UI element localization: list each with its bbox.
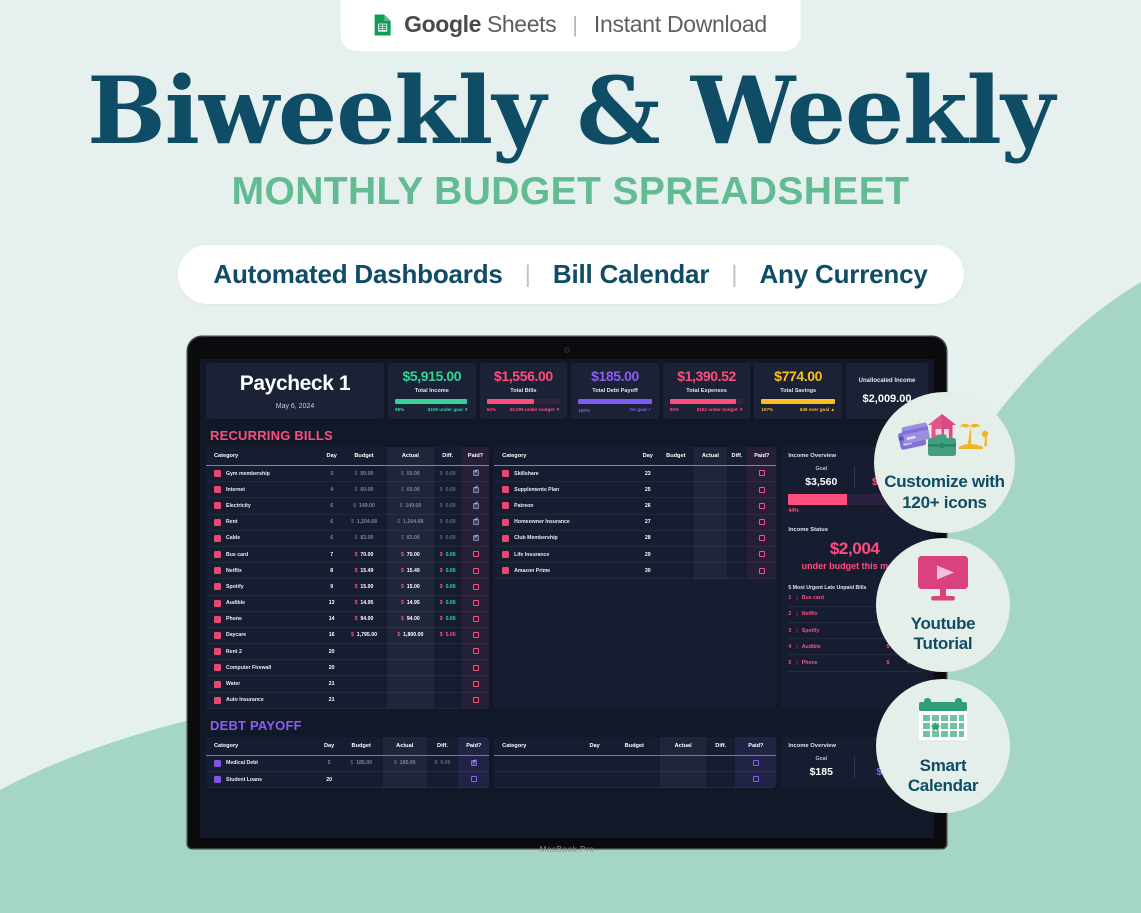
kpi-value: $185.00 — [591, 368, 639, 384]
badge-smart-calendar[interactable]: Smart Calendar — [876, 679, 1010, 813]
category-label: Netflix — [226, 568, 242, 574]
cell-category: Water — [206, 676, 323, 692]
cell-paid — [747, 466, 776, 482]
col-header-paid: Paid? — [462, 447, 489, 466]
cell-category: Medical Debt — [206, 755, 319, 771]
cell-budget: $ 83.00 — [341, 530, 387, 546]
col-header-day: Day — [319, 737, 340, 756]
income-status-title: Income Status — [788, 527, 921, 533]
paid-checkbox[interactable] — [473, 632, 479, 638]
category-label: Life Insurance — [514, 552, 549, 558]
headphones-icon — [214, 583, 221, 590]
wifi-icon — [214, 486, 221, 493]
col-header-actual: Actual — [387, 447, 433, 466]
cell-category: Skillshare — [494, 466, 638, 482]
cell-actual — [387, 644, 433, 660]
urgent-currency: $ — [881, 660, 895, 666]
col-header-budget: Budget — [658, 447, 695, 466]
paid-checkbox[interactable] — [473, 568, 479, 574]
urgent-name: Bus card — [802, 595, 881, 601]
col-header-diff: Diff. — [706, 737, 735, 756]
table-row[interactable]: Rent 220 — [206, 644, 489, 660]
kpi-note: $49 over goal ▲ — [800, 407, 835, 412]
cell-category: Cable — [206, 530, 323, 546]
cell-diff: $ 0.00 — [434, 530, 462, 546]
cell-actual — [694, 563, 727, 579]
table-row[interactable]: Club Membership28 — [494, 530, 776, 546]
cell-budget — [658, 466, 695, 482]
cell-day: 21 — [323, 676, 341, 692]
paid-checkbox[interactable] — [473, 600, 479, 606]
col-header-day: Day — [638, 447, 658, 466]
cell-actual: $ 15.49 — [387, 563, 433, 579]
cell-paid — [462, 660, 489, 676]
cell-category: Gym membership — [206, 466, 323, 482]
badge-youtube-tutorial[interactable]: Youtube Tutorial — [876, 538, 1010, 672]
kpi-trend-icon: ▲ — [830, 407, 835, 412]
category-label: Homeowner Insurance — [514, 519, 570, 525]
category-label: Audible — [226, 600, 245, 606]
cell-diff: $ 0.00 — [434, 546, 462, 562]
cell-paid — [747, 482, 776, 498]
paid-checkbox[interactable] — [473, 470, 479, 476]
medical-icon — [214, 760, 221, 767]
cell-paid — [462, 676, 489, 692]
lightbulb-icon — [214, 502, 221, 509]
kpi-card-4: $774.00Total Savings107%$49 over goal ▲ — [754, 363, 842, 419]
cell-diff — [434, 676, 462, 692]
col-header-actual: Actual — [660, 737, 706, 756]
cell-day — [581, 772, 609, 788]
paid-checkbox[interactable] — [759, 535, 765, 541]
feature-bill-calendar: Bill Calendar — [553, 259, 709, 290]
paid-checkbox[interactable] — [473, 648, 479, 654]
google-sheets-badge: Google Sheets | Instant Download — [340, 0, 801, 51]
income-goal-column: Goal $3,560 — [788, 466, 854, 488]
table-row[interactable]: Computer Firewall20 — [206, 660, 489, 676]
cell-day: 6 — [323, 514, 341, 530]
kpi-trend-icon: ▼ — [739, 407, 744, 412]
page-title: Biweekly & Weekly — [0, 62, 1141, 160]
category-label: Rent 2 — [226, 649, 242, 655]
cell-budget: $ 1,204.68 — [341, 514, 387, 530]
cell-actual — [660, 755, 706, 771]
category-label: Spotify — [226, 584, 244, 590]
kpi-label: Total Expenses — [686, 388, 727, 394]
paid-checkbox[interactable] — [473, 584, 479, 590]
cell-budget — [658, 498, 695, 514]
table-row[interactable]: Auto Insurance21 — [206, 692, 489, 708]
cell-actual — [387, 660, 433, 676]
paid-checkbox[interactable] — [473, 616, 479, 622]
col-header-category: Category — [206, 447, 323, 466]
cell-day: 25 — [638, 482, 658, 498]
cell-actual — [694, 482, 727, 498]
col-header-category: Category — [206, 737, 319, 756]
cell-paid — [747, 563, 776, 579]
cell-diff — [727, 546, 748, 562]
cell-budget: $ 1,795.00 — [341, 627, 387, 643]
car-insurance-icon — [214, 697, 221, 704]
cell-paid — [462, 692, 489, 708]
table-row[interactable]: Gym membership3$ 50.00$ 50.00$ 0.00 — [206, 466, 489, 482]
kpi-progress-bar — [578, 399, 652, 404]
cell-diff: $ 5.00 — [434, 627, 462, 643]
kpi-trend-icon: ✓ — [648, 407, 652, 412]
cell-budget: $ 14.95 — [341, 595, 387, 611]
cell-budget: $ 15.00 — [341, 579, 387, 595]
category-label: Rent — [226, 519, 238, 525]
table-row[interactable]: Netflix8$ 15.49$ 15.49$ 0.00 — [206, 563, 489, 579]
kpi-label: Total Debt Payoff — [592, 388, 638, 394]
table-row[interactable]: Rent6$ 1,204.68$ 1,204.68$ 0.00 — [206, 514, 489, 530]
table-row[interactable]: Internet4$ 60.00$ 60.00$ 0.00 — [206, 482, 489, 498]
kpi-trend-icon: ▼ — [556, 407, 561, 412]
debt-table-left[interactable]: CategoryDayBudgetActualDiff.Paid?Medical… — [206, 737, 489, 788]
cell-paid — [462, 644, 489, 660]
cell-category: Internet — [206, 482, 323, 498]
urgent-rank: 5 — [788, 660, 796, 666]
cell-paid — [458, 772, 489, 788]
kpi-footer: 107%$49 over goal ▲ — [761, 407, 835, 412]
kpi-note: On goal ✓ — [630, 407, 652, 413]
feature-any-currency: Any Currency — [759, 259, 927, 290]
cell-paid — [747, 498, 776, 514]
page-subtitle: MONTHLY BUDGET SPREADSHEET — [0, 170, 1141, 214]
table-row[interactable]: Bus card7$ 70.00$ 70.00$ 0.00 — [206, 546, 489, 562]
cell-category: Electricity — [206, 498, 323, 514]
cell-budget — [341, 644, 387, 660]
cell-paid — [735, 772, 776, 788]
cell-day: 4 — [323, 482, 341, 498]
col-header-budget: Budget — [339, 737, 383, 756]
col-header-paid: Paid? — [747, 447, 776, 466]
cell-paid — [462, 498, 489, 514]
badge-calendar-line2: Calendar — [908, 776, 978, 796]
cell-budget — [658, 482, 695, 498]
kpi-card-3: $1,390.52Total Expenses90%$162 under bud… — [663, 363, 751, 419]
cell-actual — [694, 498, 727, 514]
category-label: Student Loans — [226, 777, 262, 783]
spreadsheet-dashboard: Paycheck 1 May 6, 2024 $5,915.00Total In… — [200, 359, 934, 838]
kpi-trend-icon: ▼ — [464, 407, 469, 412]
debt-goal-value: $185 — [788, 766, 854, 778]
youtube-monitor-icon — [916, 556, 970, 607]
table-row[interactable]: Supplements Plan25 — [494, 482, 776, 498]
cell-budget — [658, 546, 695, 562]
cell-actual — [387, 676, 433, 692]
section-title-debt-payoff: DEBT PAYOFF — [210, 718, 928, 733]
table-row[interactable]: Skillshare23 — [494, 466, 776, 482]
paid-checkbox[interactable] — [759, 568, 765, 574]
table-row[interactable]: Homeowner Insurance27 — [494, 514, 776, 530]
kpi-note: $162 under budget ▼ — [697, 407, 744, 412]
table-row[interactable]: Daycare16$ 1,795.00$ 1,800.00$ 5.00 — [206, 627, 489, 643]
table-row[interactable] — [494, 755, 776, 771]
table-row[interactable]: Life Insurance29 — [494, 546, 776, 562]
sheets-brand: Sheets — [481, 11, 556, 37]
cell-paid — [462, 627, 489, 643]
cell-diff — [727, 514, 748, 530]
badge-customize-icons[interactable]: Customize with 120+ icons — [874, 392, 1015, 533]
bills-table-right-panel: CategoryDayBudgetActualDiff.Paid?Skillsh… — [494, 447, 776, 709]
paid-checkbox[interactable] — [759, 470, 765, 476]
kpi-card-1: $1,556.00Total Bills64%$2,005 under budg… — [480, 363, 568, 419]
cell-category: Auto Insurance — [206, 692, 323, 708]
kpi-value: $1,556.00 — [494, 368, 553, 384]
cell-diff: $ 0.00 — [434, 482, 462, 498]
cell-paid — [462, 482, 489, 498]
paid-checkbox[interactable] — [473, 503, 479, 509]
laptop-model-label: MacBook Pro — [540, 845, 595, 854]
paid-checkbox[interactable] — [759, 551, 765, 557]
debt-table-right[interactable]: CategoryDayBudgetActualDiff.Paid? — [494, 737, 776, 788]
cell-budget: $ 185.00 — [339, 755, 383, 771]
cell-diff: $ 0.00 — [434, 466, 462, 482]
urgent-name: Phone — [802, 660, 881, 666]
badge-customize-line2: 120+ icons — [902, 493, 986, 513]
kpi-footer: 98%$106 under goal ▼ — [395, 407, 469, 412]
cell-category: Patreon — [494, 498, 638, 514]
kpi-pct: 64% — [487, 407, 496, 412]
table-row[interactable]: Water21 — [206, 676, 489, 692]
feature-automated-dashboards: Automated Dashboards — [213, 259, 502, 290]
laptop-lid: Paycheck 1 May 6, 2024 $5,915.00Total In… — [188, 337, 946, 848]
cell-budget — [341, 660, 387, 676]
table-row[interactable]: Spotify9$ 15.00$ 15.00$ 0.00 — [206, 579, 489, 595]
cell-diff — [706, 755, 735, 771]
cell-day: 29 — [638, 546, 658, 562]
cell-diff: $ 0.00 — [434, 595, 462, 611]
google-sheets-icon — [370, 13, 394, 37]
cell-category: Student Loans — [206, 772, 319, 788]
cell-day: 7 — [323, 546, 341, 562]
cell-budget: $ 70.00 — [341, 546, 387, 562]
category-label: Phone — [226, 616, 242, 622]
bills-table-left-panel: CategoryDayBudgetActualDiff.Paid?Gym mem… — [206, 447, 489, 709]
bills-table-right[interactable]: CategoryDayBudgetActualDiff.Paid?Skillsh… — [494, 447, 776, 579]
cell-paid — [747, 514, 776, 530]
bills-table-left[interactable]: CategoryDayBudgetActualDiff.Paid?Gym mem… — [206, 447, 489, 709]
category-label: Supplements Plan — [514, 487, 559, 493]
cell-diff — [727, 466, 748, 482]
unallocated-income-label: Unallocated Income — [859, 377, 916, 385]
paid-checkbox[interactable] — [473, 519, 479, 525]
cell-category: Spotify — [206, 579, 323, 595]
table-row[interactable]: Audible13$ 14.95$ 14.95$ 0.00 — [206, 595, 489, 611]
house-icon — [214, 519, 221, 526]
netflix-icon — [214, 567, 221, 574]
row-icon-empty — [502, 776, 509, 783]
table-row[interactable]: Patreon26 — [494, 498, 776, 514]
kpi-pct: 98% — [395, 407, 404, 412]
kpi-card-2: $185.00Total Debt Payoff100%On goal ✓ — [571, 363, 659, 419]
recurring-bills-panels: CategoryDayBudgetActualDiff.Paid?Gym mem… — [206, 447, 928, 709]
paid-checkbox[interactable] — [759, 519, 765, 525]
cell-paid — [747, 530, 776, 546]
cell-actual: $ 14.95 — [387, 595, 433, 611]
cell-category: Homeowner Insurance — [494, 514, 638, 530]
people-icon — [502, 535, 509, 542]
customize-icons-art — [897, 412, 993, 465]
cell-day: 6 — [323, 530, 341, 546]
kpi-footer: 90%$162 under budget ▼ — [670, 407, 744, 412]
col-header-budget: Budget — [341, 447, 387, 466]
col-header-paid: Paid? — [735, 737, 776, 756]
paid-checkbox[interactable] — [471, 760, 477, 766]
debt-table-left-panel: CategoryDayBudgetActualDiff.Paid?Medical… — [206, 737, 489, 788]
cell-paid — [735, 755, 776, 771]
table-row[interactable]: Cable6$ 83.00$ 83.00$ 0.00 — [206, 530, 489, 546]
paid-checkbox[interactable] — [471, 776, 477, 782]
shield-home-icon — [502, 519, 509, 526]
cell-day: 14 — [323, 611, 341, 627]
cell-actual: $ 70.00 — [387, 546, 433, 562]
debt-payoff-panels: CategoryDayBudgetActualDiff.Paid?Medical… — [206, 737, 928, 788]
cell-day: 27 — [638, 514, 658, 530]
books-icon — [214, 600, 221, 607]
cell-day: 3 — [323, 466, 341, 482]
cell-category: Phone — [206, 611, 323, 627]
cell-diff: $ 0.00 — [434, 514, 462, 530]
feature-separator-1: | — [503, 261, 553, 289]
kpi-footer: 64%$2,005 under budget ▼ — [487, 407, 561, 412]
shield-icon — [502, 551, 509, 558]
table-row[interactable]: Amazon Prime30 — [494, 563, 776, 579]
cell-diff — [434, 660, 462, 676]
cell-actual: $ 1,800.00 — [387, 627, 433, 643]
cell-budget — [658, 530, 695, 546]
google-sheets-label: Google Sheets — [404, 11, 556, 38]
paid-checkbox[interactable] — [473, 681, 479, 687]
kpi-progress-bar — [761, 399, 835, 404]
cell-day — [581, 755, 609, 771]
cell-paid — [462, 466, 489, 482]
paid-checkbox[interactable] — [759, 503, 765, 509]
cell-actual — [694, 514, 727, 530]
cell-paid — [458, 755, 489, 771]
badge-youtube-line1: Youtube — [911, 614, 976, 634]
cell-budget — [658, 563, 695, 579]
cell-day: 13 — [323, 595, 341, 611]
col-header-paid: Paid? — [458, 737, 489, 756]
cell-actual: $ 15.00 — [387, 579, 433, 595]
membership-card-icon — [214, 470, 221, 477]
cell-diff — [727, 482, 748, 498]
kpi-progress-bar — [395, 399, 469, 404]
paycheck-card: Paycheck 1 May 6, 2024 — [206, 363, 384, 419]
cell-diff: $ 0.00 — [434, 579, 462, 595]
table-row[interactable]: Electricity6$ 149.00$ 149.00$ 0.00 — [206, 498, 489, 514]
supplements-icon — [502, 486, 509, 493]
col-header-actual: Actual — [383, 737, 427, 756]
cell-paid — [462, 611, 489, 627]
cell-day: 21 — [323, 692, 341, 708]
google-brand: Google — [404, 11, 481, 37]
category-label: Auto Insurance — [226, 697, 264, 703]
cell-day: 28 — [638, 530, 658, 546]
cell-category: Computer Firewall — [206, 660, 323, 676]
cell-category: Audible — [206, 595, 323, 611]
col-header-category: Category — [494, 447, 638, 466]
paycheck-title: Paycheck 1 — [240, 372, 350, 396]
kpi-pct: 90% — [670, 407, 679, 412]
kpi-value: $774.00 — [774, 368, 822, 384]
water-drop-icon — [214, 681, 221, 688]
instant-download-label: Instant Download — [594, 11, 767, 38]
paid-checkbox[interactable] — [473, 535, 479, 541]
cell-day: 5 — [319, 755, 340, 771]
easel-icon — [502, 470, 509, 477]
paid-checkbox[interactable] — [473, 665, 479, 671]
table-row[interactable]: Medical Debt5$ 185.00$ 185.00$ 0.00 — [206, 755, 489, 771]
cell-day: 16 — [323, 627, 341, 643]
cell-category: Rent 2 — [206, 644, 323, 660]
cell-day: 20 — [323, 644, 341, 660]
category-label: Electricity — [226, 503, 251, 509]
category-label: Patreon — [514, 503, 533, 509]
cell-actual: $ 94.00 — [387, 611, 433, 627]
cell-day: 8 — [323, 563, 341, 579]
cell-category: Life Insurance — [494, 546, 638, 562]
cell-diff — [427, 772, 459, 788]
table-row[interactable]: Student Loans20 — [206, 772, 489, 788]
webcam-icon — [564, 347, 570, 353]
table-row[interactable] — [494, 772, 776, 788]
urgent-name: Netflix — [802, 611, 881, 617]
badge-customize-line1: Customize with — [884, 472, 1004, 492]
table-row[interactable]: Phone14$ 94.00$ 94.00$ 0.00 — [206, 611, 489, 627]
paid-checkbox[interactable] — [753, 760, 759, 766]
kpi-value: $1,390.52 — [677, 368, 736, 384]
kpi-label: Total Income — [415, 388, 449, 394]
cell-budget: $ 94.00 — [341, 611, 387, 627]
paid-checkbox[interactable] — [759, 487, 765, 493]
cell-actual: $ 1,204.68 — [387, 514, 433, 530]
cell-day: 20 — [319, 772, 340, 788]
house-icon — [214, 648, 221, 655]
cell-day: 30 — [638, 563, 658, 579]
cell-category: Bus card — [206, 546, 323, 562]
category-label: Gym membership — [226, 471, 270, 477]
cell-budget — [658, 514, 695, 530]
paycheck-date: May 6, 2024 — [276, 403, 315, 410]
cell-paid — [462, 546, 489, 562]
col-header-diff: Diff. — [427, 737, 459, 756]
category-label: Amazon Prime — [514, 568, 550, 574]
paid-checkbox[interactable] — [473, 551, 479, 557]
paid-checkbox[interactable] — [753, 776, 759, 782]
cell-actual — [694, 466, 727, 482]
cell-budget — [341, 676, 387, 692]
cell-day: 9 — [323, 579, 341, 595]
paid-checkbox[interactable] — [473, 697, 479, 703]
cell-diff: $ 0.00 — [434, 563, 462, 579]
cell-diff — [434, 692, 462, 708]
cell-budget: $ 50.00 — [341, 466, 387, 482]
category-label: Daycare — [226, 632, 246, 638]
cell-actual — [694, 546, 727, 562]
cell-diff — [727, 530, 748, 546]
urgent-rank: 2 — [788, 611, 796, 617]
kpi-card-0: $5,915.00Total Income98%$106 under goal … — [388, 363, 476, 419]
cell-paid — [462, 595, 489, 611]
category-label: Medical Debt — [226, 760, 258, 766]
paid-checkbox[interactable] — [473, 487, 479, 493]
cell-paid — [747, 546, 776, 562]
kpi-progress-bar — [487, 399, 561, 404]
col-header-actual: Actual — [694, 447, 727, 466]
